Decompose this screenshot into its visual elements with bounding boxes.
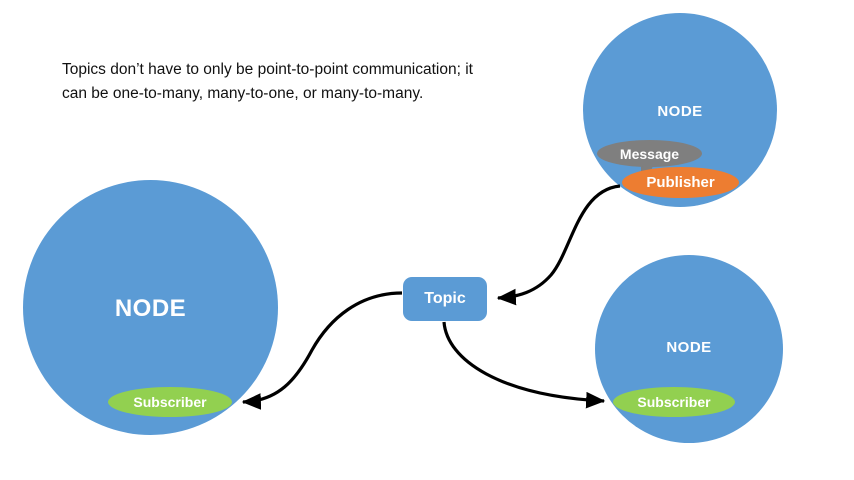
node-bottom-right-subscriber-label: NODE	[595, 339, 783, 356]
node-top-right-publisher-label: NODE	[583, 103, 777, 120]
caption-text: Topics don’t have to only be point-to-po…	[62, 58, 482, 106]
arrow-topic-to-right-subscriber	[444, 322, 604, 401]
slide-canvas: Topics don’t have to only be point-to-po…	[0, 0, 854, 480]
arrow-publisher-to-topic	[498, 186, 620, 298]
node-left-subscriber-label: NODE	[23, 295, 278, 323]
subscriber-endpoint-left[interactable]: Subscriber	[108, 387, 232, 417]
subscriber-endpoint-right[interactable]: Subscriber	[613, 387, 735, 417]
publisher-endpoint[interactable]: Publisher	[622, 167, 739, 198]
topic-box[interactable]: Topic	[403, 277, 487, 321]
message-bubble[interactable]: Message	[597, 140, 702, 167]
